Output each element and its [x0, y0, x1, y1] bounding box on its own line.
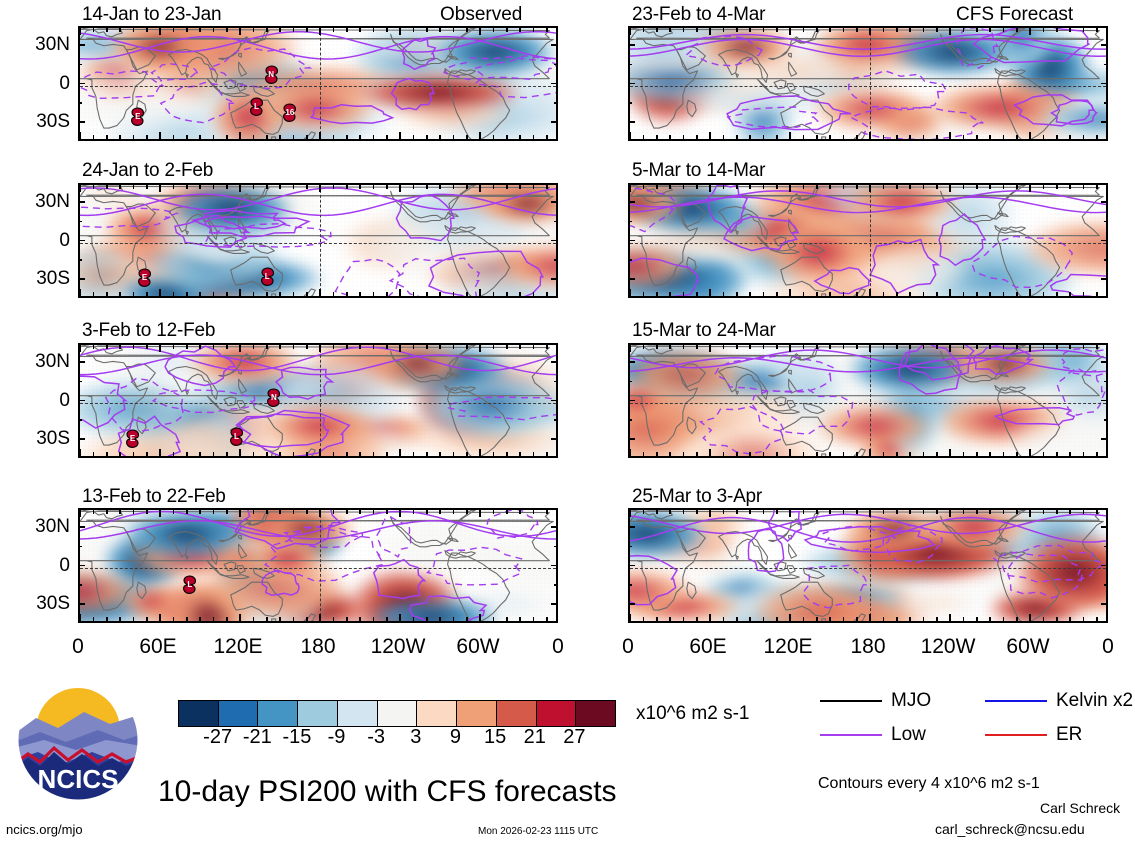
y-tick	[1101, 83, 1108, 85]
bottom-ticks	[630, 289, 1108, 296]
dateline	[870, 185, 871, 296]
y-axis-label: 30N	[0, 191, 70, 213]
equator-line	[80, 403, 556, 404]
x-axis-left: 060E120E180120W60W0	[78, 627, 558, 661]
x-axis-label: 0	[588, 635, 668, 659]
y-tick	[551, 240, 558, 242]
legend-swatch	[820, 734, 882, 736]
x-axis-label: 120E	[198, 635, 278, 659]
cyclone-marker: E	[129, 107, 146, 126]
equator-line	[630, 243, 1106, 244]
y-tick	[78, 438, 85, 440]
y-tick	[78, 361, 85, 363]
colorbar-swatch	[219, 701, 259, 726]
colorbar-swatch	[298, 701, 338, 726]
y-tick	[1104, 419, 1108, 421]
cyclone-label: L	[181, 575, 198, 594]
legend-item-mjo: MJO	[820, 690, 931, 712]
colorbar-swatch	[417, 701, 457, 726]
top-ticks	[80, 345, 558, 352]
y-tick	[628, 83, 635, 85]
cyclone-marker: L	[228, 427, 245, 446]
y-tick	[628, 546, 632, 548]
y-tick	[78, 102, 82, 104]
cyclone-marker: L	[248, 97, 265, 116]
map-panel	[628, 508, 1108, 623]
legend-item-kelvin-x2: Kelvin x2	[985, 690, 1133, 712]
top-ticks	[630, 28, 1108, 35]
bottom-ticks	[630, 614, 1108, 621]
top-ticks	[630, 510, 1108, 517]
y-tick	[628, 438, 635, 440]
panel-title: 25-Mar to 3-Apr	[632, 486, 762, 508]
dateline	[870, 345, 871, 456]
y-axis-label: 30N	[0, 516, 70, 538]
y-tick	[78, 121, 85, 123]
y-tick	[1101, 361, 1108, 363]
y-tick	[551, 201, 558, 203]
equator-line	[80, 243, 556, 244]
x-axis-label: 0	[38, 635, 118, 659]
y-tick	[1101, 121, 1108, 123]
bottom-ticks	[80, 132, 558, 139]
top-ticks	[630, 185, 1108, 192]
y-tick	[1101, 278, 1108, 280]
y-tick	[1101, 400, 1108, 402]
equator-line	[630, 86, 1106, 87]
y-tick	[551, 438, 558, 440]
y-tick	[554, 64, 558, 66]
x-axis-label: 120E	[748, 635, 828, 659]
contour-note: Contours every 4 x10^6 m2 s-1	[818, 775, 1040, 793]
equator-line	[80, 568, 556, 569]
colorbar-tick: 27	[544, 726, 604, 749]
y-tick	[628, 584, 632, 586]
y-tick	[551, 603, 558, 605]
y-tick	[628, 381, 632, 383]
y-tick	[551, 361, 558, 363]
y-tick	[628, 259, 632, 261]
y-tick	[628, 278, 635, 280]
top-ticks	[80, 185, 558, 192]
y-tick	[551, 121, 558, 123]
legend-swatch	[985, 734, 1047, 736]
forecast-tag: CFS Forecast	[956, 4, 1073, 26]
y-tick	[78, 419, 82, 421]
y-tick	[78, 240, 85, 242]
y-tick	[628, 400, 635, 402]
streamfunction-contours	[630, 28, 1106, 141]
bottom-ticks	[630, 132, 1108, 139]
legend-swatch	[985, 700, 1047, 702]
y-axis-label: 0	[0, 73, 70, 95]
map-panel	[628, 343, 1108, 458]
colorbar-swatch	[338, 701, 378, 726]
y-tick	[554, 221, 558, 223]
x-axis-label: 60E	[118, 635, 198, 659]
y-tick	[628, 603, 635, 605]
y-tick	[551, 526, 558, 528]
panel-title: 15-Mar to 24-Mar	[632, 320, 776, 342]
x-axis-label: 180	[278, 635, 358, 659]
legend-label: ER	[1056, 724, 1082, 746]
cyclone-marker: L	[259, 267, 276, 286]
y-axis-label: 30S	[0, 111, 70, 133]
y-tick	[78, 259, 82, 261]
legend-item-low: Low	[820, 724, 926, 746]
y-tick	[1104, 381, 1108, 383]
ncics-logo: NCICS	[14, 676, 142, 809]
top-ticks	[80, 28, 558, 35]
legend-item-er: ER	[985, 724, 1082, 746]
equator-line	[630, 403, 1106, 404]
y-tick	[554, 419, 558, 421]
y-tick	[628, 64, 632, 66]
observed-tag: Observed	[440, 4, 522, 26]
x-axis-label: 0	[518, 635, 598, 659]
equator-line	[80, 86, 556, 87]
x-axis-right: 060E120E180120W60W0	[628, 627, 1108, 661]
panel-title: 5-Mar to 14-Mar	[632, 160, 765, 182]
legend-label: Low	[891, 724, 926, 746]
y-tick	[554, 102, 558, 104]
cyclone-label: 16	[281, 103, 298, 122]
dateline	[870, 28, 871, 139]
y-tick	[628, 221, 632, 223]
x-axis-label: 120W	[908, 635, 988, 659]
bottom-ticks	[80, 449, 558, 456]
y-tick	[1104, 546, 1108, 548]
y-tick	[78, 565, 85, 567]
bottom-ticks	[630, 449, 1108, 456]
y-tick	[78, 546, 82, 548]
streamfunction-contours	[630, 185, 1106, 298]
panel-title: 3-Feb to 12-Feb	[82, 320, 215, 342]
dateline	[320, 28, 321, 139]
cyclone-label: E	[129, 107, 146, 126]
y-tick	[1101, 44, 1108, 46]
streamfunction-contours	[80, 510, 556, 623]
y-tick	[628, 102, 632, 104]
x-axis-label: 60W	[988, 635, 1068, 659]
colorbar-tick-labels: -27-21-15-9-339152127	[178, 726, 614, 752]
cyclone-label: E	[124, 429, 141, 448]
equator-line	[630, 568, 1106, 569]
y-axis-label: 30N	[0, 34, 70, 56]
author-email: carl_schreck@ncsu.edu	[935, 821, 1085, 837]
y-tick	[1101, 603, 1108, 605]
legend-label: MJO	[891, 690, 931, 712]
y-tick	[1104, 102, 1108, 104]
colorbar-swatch	[258, 701, 298, 726]
y-tick	[628, 44, 635, 46]
y-tick	[78, 584, 82, 586]
y-tick	[1101, 526, 1108, 528]
y-axis-label: 30N	[0, 351, 70, 373]
panel-title: 13-Feb to 22-Feb	[82, 486, 226, 508]
cyclone-marker: N	[265, 388, 282, 407]
x-axis-label: 120W	[358, 635, 438, 659]
y-tick	[78, 400, 85, 402]
y-tick	[1104, 64, 1108, 66]
author-name: Carl Schreck	[1040, 800, 1120, 816]
streamfunction-contours	[630, 510, 1106, 623]
y-tick	[628, 361, 635, 363]
y-tick	[1104, 584, 1108, 586]
streamfunction-contours	[80, 345, 556, 458]
y-tick	[551, 278, 558, 280]
cyclone-label: E	[136, 268, 153, 287]
bottom-ticks	[80, 289, 558, 296]
site-url: ncics.org/mjo	[6, 822, 83, 837]
y-tick	[1104, 221, 1108, 223]
colorbar-swatch	[497, 701, 537, 726]
y-tick	[628, 419, 632, 421]
panel-title: 24-Jan to 2-Feb	[82, 160, 213, 182]
dateline	[320, 185, 321, 296]
x-axis-label: 60W	[438, 635, 518, 659]
y-tick	[628, 240, 635, 242]
legend-swatch	[820, 700, 882, 702]
logo-text: NCICS	[38, 764, 119, 794]
contour-legend: MJOKelvin x2LowER	[820, 690, 1130, 760]
x-axis-label: 180	[828, 635, 908, 659]
map-panel: EL16N	[78, 26, 558, 141]
y-tick	[554, 584, 558, 586]
cyclone-marker: L	[181, 575, 198, 594]
y-axis-label: 0	[0, 555, 70, 577]
panel-title: 14-Jan to 23-Jan	[82, 4, 221, 26]
cyclone-marker: 16	[281, 103, 298, 122]
y-tick	[78, 201, 85, 203]
y-tick	[1101, 201, 1108, 203]
y-tick	[1101, 565, 1108, 567]
map-panel	[628, 183, 1108, 298]
colorbar	[178, 700, 616, 727]
y-tick	[628, 565, 635, 567]
y-tick	[78, 83, 85, 85]
bottom-ticks	[80, 614, 558, 621]
y-axis-label: 0	[0, 230, 70, 252]
y-tick	[1101, 240, 1108, 242]
cyclone-label: L	[228, 427, 245, 446]
y-tick	[554, 259, 558, 261]
cyclone-label: L	[248, 97, 265, 116]
cyclone-marker: N	[263, 65, 280, 84]
y-axis-label: 30S	[0, 268, 70, 290]
main-title: 10-day PSI200 with CFS forecasts	[158, 775, 617, 809]
dateline	[870, 510, 871, 621]
y-tick	[78, 44, 85, 46]
y-tick	[554, 381, 558, 383]
x-axis-label: 0	[1068, 635, 1135, 659]
top-ticks	[630, 345, 1108, 352]
y-tick	[78, 526, 85, 528]
y-tick	[1104, 259, 1108, 261]
y-tick	[1101, 438, 1108, 440]
colorbar-swatch	[179, 701, 219, 726]
timestamp: Mon 2026-02-23 1115 UTC	[478, 826, 598, 837]
y-tick	[554, 546, 558, 548]
colorbar-swatch	[378, 701, 418, 726]
y-tick	[78, 221, 82, 223]
map-panel: L	[78, 508, 558, 623]
top-ticks	[80, 510, 558, 517]
y-tick	[551, 565, 558, 567]
cyclone-label: N	[263, 65, 280, 84]
panel-title: 23-Feb to 4-Mar	[632, 4, 765, 26]
y-axis-label: 0	[0, 390, 70, 412]
colorbar-swatch	[537, 701, 577, 726]
colorbar-swatch	[457, 701, 497, 726]
y-tick	[78, 278, 85, 280]
dateline	[320, 510, 321, 621]
cyclone-marker: E	[124, 429, 141, 448]
map-panel: ENL	[78, 343, 558, 458]
streamfunction-contours	[80, 28, 556, 141]
y-tick	[551, 400, 558, 402]
map-panel	[628, 26, 1108, 141]
cyclone-label: L	[259, 267, 276, 286]
y-tick	[628, 201, 635, 203]
y-tick	[628, 526, 635, 528]
y-tick	[551, 83, 558, 85]
y-tick	[551, 44, 558, 46]
y-tick	[78, 64, 82, 66]
streamfunction-contours	[630, 345, 1106, 458]
y-axis-label: 30S	[0, 593, 70, 615]
y-axis-label: 30S	[0, 428, 70, 450]
colorbar-unit-label: x10^6 m2 s-1	[636, 703, 749, 725]
y-tick	[78, 381, 82, 383]
cyclone-marker: E	[136, 268, 153, 287]
cyclone-label: N	[265, 388, 282, 407]
legend-label: Kelvin x2	[1056, 690, 1133, 712]
y-tick	[78, 603, 85, 605]
x-axis-label: 60E	[668, 635, 748, 659]
dateline	[320, 345, 321, 456]
map-panel: EL	[78, 183, 558, 298]
y-tick	[628, 121, 635, 123]
colorbar-swatch	[576, 701, 615, 726]
